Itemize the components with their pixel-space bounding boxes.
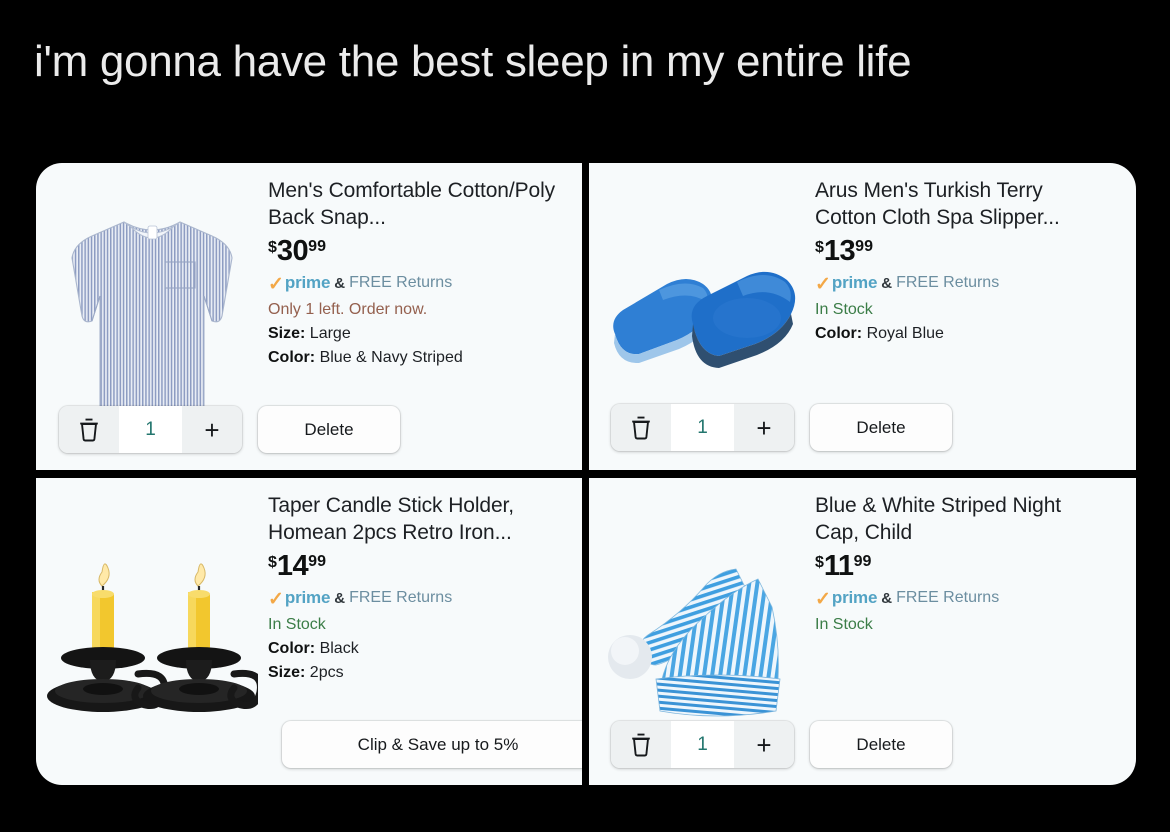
prime-badge: ✓ prime & FREE Returns: [268, 273, 572, 293]
price-whole: 13: [824, 237, 855, 266]
product-title[interactable]: Men's Comfortable Cotton/Poly Back Snap.…: [268, 177, 558, 231]
product-title[interactable]: Arus Men's Turkish Terry Cotton Cloth Sp…: [815, 177, 1105, 231]
product-price: $3099: [268, 237, 572, 266]
prime-label: prime: [285, 273, 330, 293]
quantity-stepper[interactable]: 1 +: [611, 404, 794, 451]
increase-quantity-button[interactable]: +: [734, 721, 794, 768]
ampersand: &: [881, 590, 892, 607]
free-returns-label: FREE Returns: [349, 274, 452, 292]
ampersand: &: [334, 275, 345, 292]
price-currency: $: [268, 555, 277, 571]
increase-quantity-button[interactable]: +: [734, 404, 794, 451]
delete-button[interactable]: Delete: [810, 721, 952, 768]
slippers-icon: [597, 242, 807, 392]
item-controls: Clip & Save up to 5%: [282, 721, 582, 768]
price-fraction: 99: [308, 239, 326, 255]
attribute-value: Royal Blue: [867, 325, 944, 342]
product-attribute-color: Color: Blue & Navy Striped: [268, 349, 572, 367]
increase-quantity-button[interactable]: +: [182, 406, 242, 453]
clip-and-save-button[interactable]: Clip & Save up to 5%: [282, 721, 582, 768]
prime-badge: ✓ prime & FREE Returns: [268, 588, 572, 608]
quantity-value[interactable]: 1: [119, 406, 182, 453]
item-controls: 1 + Delete: [59, 406, 400, 453]
ampersand: &: [334, 590, 345, 607]
attribute-label: Color:: [815, 325, 862, 342]
prime-badge: ✓ prime & FREE Returns: [815, 273, 1126, 293]
price-currency: $: [268, 240, 277, 256]
product-attribute-size: Size: Large: [268, 325, 572, 343]
nightcap-icon: [600, 539, 805, 724]
attribute-value: Blue & Navy Striped: [320, 349, 463, 366]
product-price: $1199: [815, 552, 1126, 581]
quantity-value[interactable]: 1: [671, 404, 734, 451]
candlestick-icon: [46, 534, 258, 729]
prime-label: prime: [832, 273, 877, 293]
trash-icon: [630, 732, 652, 757]
check-icon: ✓: [268, 275, 284, 294]
nightshirt-icon: [62, 204, 242, 429]
trash-icon: [78, 417, 100, 442]
attribute-label: Size:: [268, 664, 305, 681]
product-title[interactable]: Taper Candle Stick Holder, Homean 2pcs R…: [268, 492, 558, 546]
cart-item-card[interactable]: Arus Men's Turkish Terry Cotton Cloth Sp…: [589, 163, 1136, 470]
remove-item-button[interactable]: [59, 406, 119, 453]
trash-icon: [630, 415, 652, 440]
price-whole: 14: [277, 552, 308, 581]
cart-item-card[interactable]: Blue & White Striped Night Cap, Child $1…: [589, 478, 1136, 785]
price-whole: 11: [824, 552, 854, 581]
attribute-value: Black: [320, 640, 359, 657]
product-image-candlestick[interactable]: [36, 478, 268, 785]
free-returns-label: FREE Returns: [896, 274, 999, 292]
price-fraction: 99: [854, 554, 872, 570]
price-fraction: 99: [855, 239, 873, 255]
quantity-value[interactable]: 1: [671, 721, 734, 768]
price-fraction: 99: [308, 554, 326, 570]
ampersand: &: [881, 275, 892, 292]
stock-status: In Stock: [815, 301, 1126, 319]
remove-item-button[interactable]: [611, 404, 671, 451]
product-attribute-color: Color: Royal Blue: [815, 325, 1126, 343]
free-returns-label: FREE Returns: [896, 589, 999, 607]
attribute-value: 2pcs: [310, 664, 344, 681]
check-icon: ✓: [815, 590, 831, 609]
check-icon: ✓: [815, 275, 831, 294]
stock-status: In Stock: [815, 616, 1126, 634]
quantity-stepper[interactable]: 1 +: [611, 721, 794, 768]
delete-button[interactable]: Delete: [258, 406, 400, 453]
product-attribute-size: Size: 2pcs: [268, 664, 572, 682]
quantity-stepper[interactable]: 1 +: [59, 406, 242, 453]
cart-items-grid: Men's Comfortable Cotton/Poly Back Snap.…: [0, 163, 1170, 785]
prime-badge: ✓ prime & FREE Returns: [815, 588, 1126, 608]
price-currency: $: [815, 240, 824, 256]
stock-status: Only 1 left. Order now.: [268, 301, 572, 319]
prime-label: prime: [832, 588, 877, 608]
attribute-label: Color:: [268, 349, 315, 366]
cart-item-card[interactable]: Men's Comfortable Cotton/Poly Back Snap.…: [36, 163, 582, 470]
delete-button[interactable]: Delete: [810, 404, 952, 451]
product-attribute-color: Color: Black: [268, 640, 572, 658]
attribute-label: Color:: [268, 640, 315, 657]
attribute-value: Large: [310, 325, 351, 342]
meme-caption: i'm gonna have the best sleep in my enti…: [34, 33, 1134, 91]
price-whole: 30: [277, 237, 308, 266]
attribute-label: Size:: [268, 325, 305, 342]
item-controls: 1 + Delete: [611, 721, 952, 768]
product-price: $1399: [815, 237, 1126, 266]
remove-item-button[interactable]: [611, 721, 671, 768]
product-price: $1499: [268, 552, 572, 581]
prime-label: prime: [285, 588, 330, 608]
check-icon: ✓: [268, 590, 284, 609]
item-controls: 1 + Delete: [611, 404, 952, 451]
stock-status: In Stock: [268, 616, 572, 634]
product-title[interactable]: Blue & White Striped Night Cap, Child: [815, 492, 1105, 546]
cart-item-card[interactable]: Taper Candle Stick Holder, Homean 2pcs R…: [36, 478, 582, 785]
price-currency: $: [815, 555, 824, 571]
free-returns-label: FREE Returns: [349, 589, 452, 607]
